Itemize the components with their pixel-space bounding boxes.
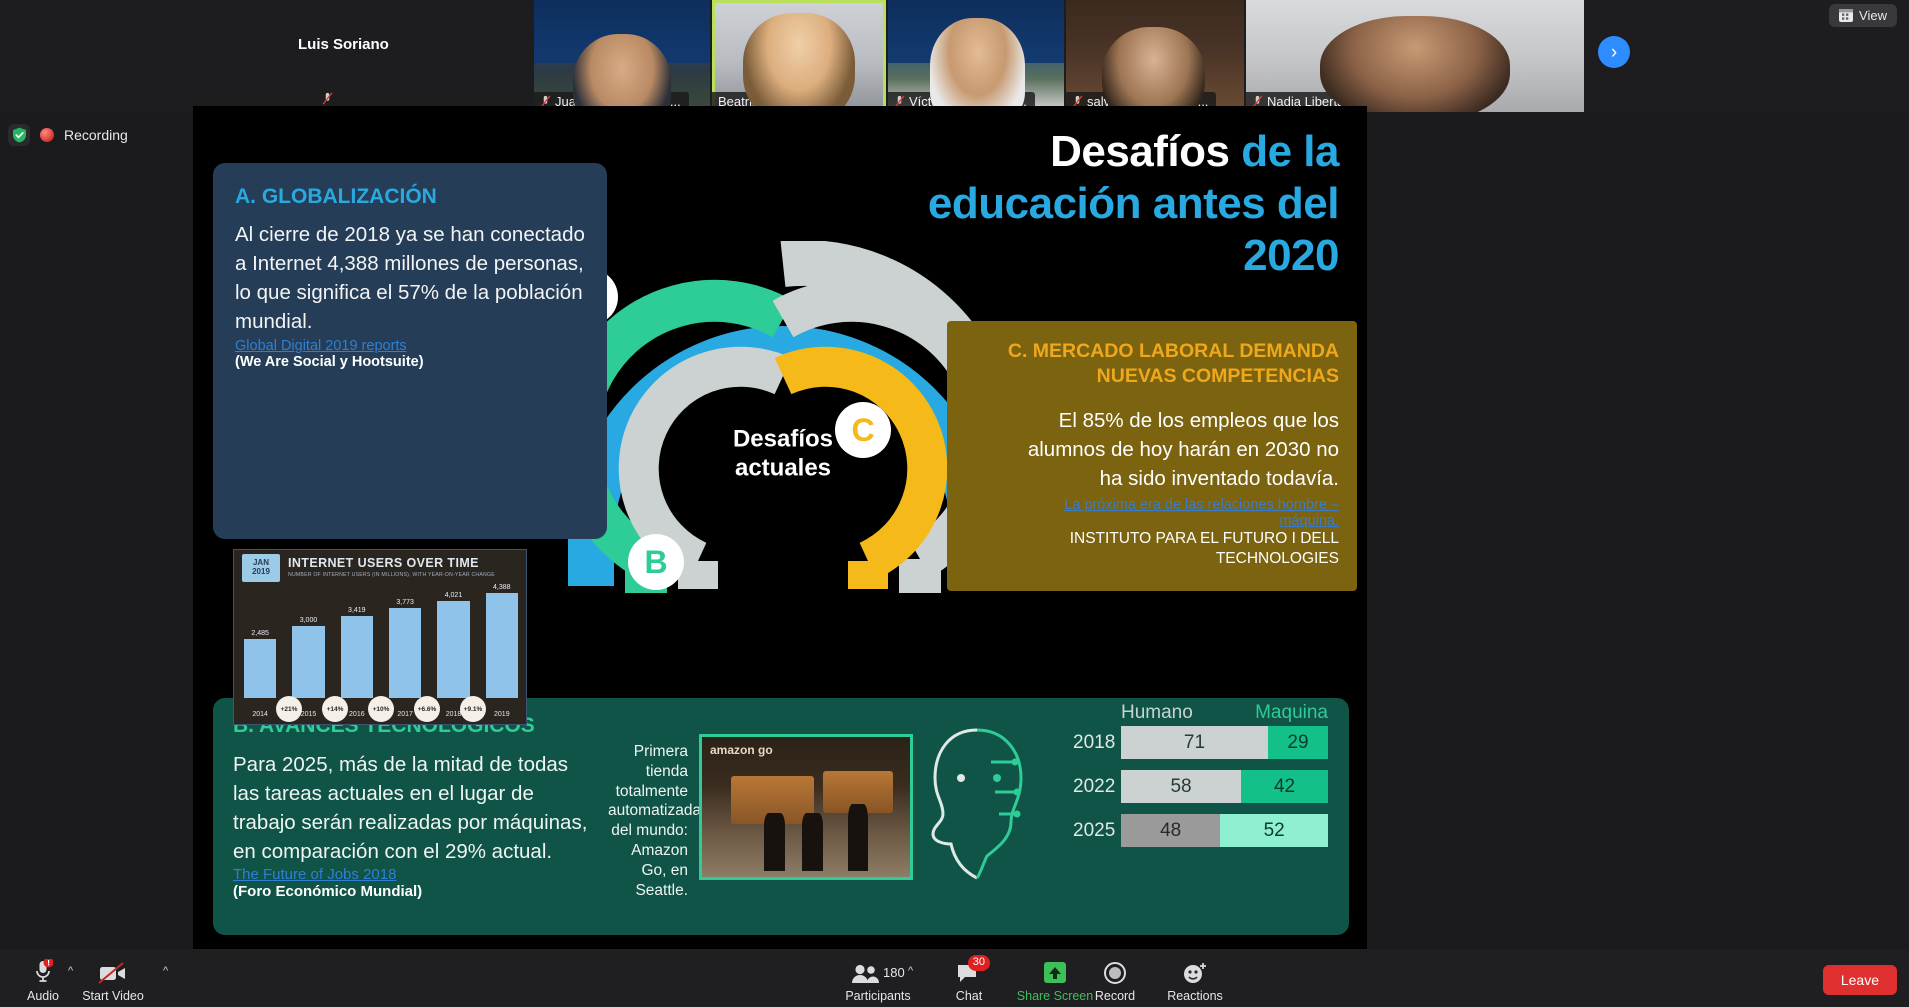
recording-dot-icon (40, 128, 54, 142)
hm-row: 2018 71 29 (1073, 726, 1328, 759)
view-button[interactable]: View (1829, 4, 1897, 27)
slide-title-line2: educación antes del (928, 179, 1339, 228)
panel-c-source-link[interactable]: La próxima era de las relaciones hombre … (1007, 497, 1339, 529)
photo-person-shape (848, 804, 869, 871)
panel-mercado-laboral: C. MERCADO LABORAL DEMANDA NUEVAS COMPET… (947, 321, 1357, 591)
chart-bar-group: 3,419 (341, 584, 373, 698)
leave-label: Leave (1841, 972, 1879, 988)
chart-bar-value: 4,388 (493, 584, 511, 591)
microphone-icon (33, 959, 53, 985)
chart-growth-pill: +6.6% (414, 696, 440, 722)
hm-legend-humano: Humano (1121, 702, 1193, 724)
reactions-button[interactable]: Reactions (1145, 959, 1245, 1003)
donut-center-line2: actuales (693, 454, 873, 483)
hm-row: 2025 48 52 (1073, 814, 1328, 847)
start-video-button[interactable]: Start Video (76, 959, 150, 1003)
panel-c-heading-line1: C. MERCADO LABORAL DEMANDA (1008, 340, 1339, 362)
active-speaker-name: Luis Soriano (298, 36, 389, 53)
panel-avances-tecnologicos: B. AVANCES TECNOLÓGICOS Para 2025, más d… (213, 698, 1349, 935)
hm-legend: Humano Maquina (1073, 702, 1328, 726)
chart-bar-value: 4,021 (445, 592, 463, 599)
reactions-label: Reactions (1167, 989, 1223, 1003)
recording-indicator: Recording (8, 124, 128, 146)
mute-icon (322, 92, 333, 106)
chart-bar-group: 3,773 (389, 584, 421, 698)
chart-bar-value: 3,000 (300, 617, 318, 624)
chat-unread-badge: 30 (968, 955, 990, 971)
hm-row-year: 2022 (1073, 776, 1121, 798)
chevron-right-icon: › (1611, 43, 1617, 62)
view-button-label: View (1859, 8, 1887, 23)
record-button[interactable]: Record (1075, 959, 1155, 1003)
people-icon: 180 (851, 959, 905, 985)
chart-bar (244, 639, 276, 698)
panel-c-source-line2: TECHNOLOGIES (1216, 550, 1339, 567)
chart-growth-pills: +21% +14% +10% +6.6% +9.1% (244, 698, 518, 722)
record-circle-icon (1103, 959, 1127, 985)
panel-c-source-line1: INSTITUTO PARA EL FUTURO I DELL (1070, 530, 1339, 547)
panel-b-source: (Foro Económico Mundial) (233, 883, 1329, 900)
chart-bar-value: 2,485 (251, 630, 269, 637)
audio-label: Audio (27, 989, 59, 1003)
photo-person-shape (764, 813, 785, 872)
slide-title-line1-plain: Desafíos (1050, 127, 1241, 176)
zoom-meeting-window: Luis Soriano Juan Carlos Centen... Beatr… (0, 0, 1909, 1007)
panel-globalizacion: A. GLOBALIZACIÓN Al cierre de 2018 ya se… (213, 163, 607, 539)
chat-button[interactable]: 30 Chat (932, 959, 1006, 1003)
chart-bar (389, 608, 421, 698)
chart-date-year: 2019 (252, 568, 270, 577)
challenges-donut-chart: A B C Desafíos actuales (568, 241, 998, 671)
video-options-chevron-icon[interactable]: ^ (163, 965, 168, 977)
audio-options-chevron-icon[interactable]: ^ (68, 965, 73, 977)
filmstrip-next-button[interactable]: › (1598, 36, 1630, 68)
chart-bar-value: 3,773 (396, 599, 414, 606)
presentation-slide: Desafíos de la educación antes del 2020 (193, 106, 1367, 949)
slide-title-line1-highlight: de la (1241, 127, 1339, 176)
participant-tile[interactable]: Beatriz Palacios (712, 0, 886, 112)
badge-b-label: B (644, 544, 667, 581)
hm-bar-maquina: 42 (1241, 770, 1328, 803)
amazon-go-caption: Primera tienda totalmente automatizada d… (608, 742, 688, 901)
recording-label: Recording (64, 127, 128, 143)
hm-row-bars: 48 52 (1121, 814, 1328, 847)
chart-bar (292, 626, 324, 698)
chart-growth-pill: +21% (276, 696, 302, 722)
smiley-plus-icon (1182, 959, 1208, 985)
panel-c-body: El 85% de los empleos que los alumnos de… (1007, 406, 1339, 493)
human-machine-face-icon (925, 722, 1035, 892)
chart-growth-pill: +10% (368, 696, 394, 722)
chart-title: INTERNET USERS OVER TIME (288, 556, 479, 570)
camera-off-icon (98, 959, 128, 985)
badge-b[interactable]: B (628, 534, 684, 590)
participant-tile[interactable]: salvadorhernandez... (1066, 0, 1244, 112)
chart-bar-group: 4,021 (437, 584, 469, 698)
zoom-toolbar: Audio ^ Start Video ^ 180 (0, 949, 1909, 1007)
photo-person-shape (802, 813, 823, 872)
chart-bar-group: 2,485 (244, 584, 276, 698)
chart-bar (486, 593, 518, 698)
hm-bar-maquina: 52 (1220, 814, 1328, 847)
hm-row-bars: 71 29 (1121, 726, 1328, 759)
participant-tile[interactable]: Nadia Libertad (1246, 0, 1584, 112)
hm-row-year: 2018 (1073, 732, 1121, 754)
chart-plot-area: 2,485 3,000 3,419 3,773 (244, 584, 518, 698)
chart-bar-group: 3,000 (292, 584, 324, 698)
hm-row: 2022 58 42 (1073, 770, 1328, 803)
chart-subtitle: NUMBER OF INTERNET USERS (IN MILLIONS), … (288, 572, 495, 578)
badge-c[interactable]: C (835, 402, 891, 458)
tile-background-banner (534, 0, 710, 63)
chart-date-badge: JAN 2019 (242, 554, 280, 582)
panel-a-source-link[interactable]: Global Digital 2019 reports (235, 338, 585, 354)
hm-bar-humano: 71 (1121, 726, 1268, 759)
chat-icon: 30 (956, 959, 982, 985)
security-shield-icon[interactable] (8, 124, 30, 146)
record-label: Record (1095, 989, 1135, 1003)
panel-c-heading: C. MERCADO LABORAL DEMANDA NUEVAS COMPET… (1007, 339, 1339, 390)
hm-bar-humano: 48 (1121, 814, 1220, 847)
hm-bar-humano: 58 (1121, 770, 1241, 803)
panel-c-source: INSTITUTO PARA EL FUTURO I DELL TECHNOLO… (1007, 529, 1339, 569)
tile-background-banner (888, 0, 1064, 63)
leave-button[interactable]: Leave (1823, 965, 1897, 995)
participants-label: Participants (845, 989, 910, 1003)
svg-text:180: 180 (883, 965, 905, 980)
slide-title-line3: 2020 (1243, 231, 1339, 280)
badge-c-label: C (851, 412, 874, 449)
chart-bar (437, 601, 469, 698)
panel-b-body: Para 2025, más de la mitad de todas las … (233, 750, 593, 866)
grid-view-icon (1839, 9, 1853, 22)
participant-tile[interactable]: Juan Carlos Centen... (534, 0, 710, 112)
human-machine-chart: Humano Maquina 2018 71 29 2022 58 (1073, 702, 1328, 858)
participant-filmstrip: Luis Soriano Juan Carlos Centen... Beatr… (0, 0, 1909, 112)
chart-bar-value: 3,419 (348, 607, 366, 614)
chart-bar (341, 616, 373, 698)
hm-bar-maquina: 29 (1268, 726, 1328, 759)
chart-header: JAN 2019 INTERNET USERS OVER TIME NUMBER… (234, 550, 526, 582)
chat-label: Chat (956, 989, 982, 1003)
panel-c-heading-line2: NUEVAS COMPETENCIAS (1097, 365, 1339, 387)
internet-users-chart: JAN 2019 INTERNET USERS OVER TIME NUMBER… (233, 549, 527, 725)
hm-row-bars: 58 42 (1121, 770, 1328, 803)
hm-row-year: 2025 (1073, 820, 1121, 842)
chart-growth-pill: +14% (322, 696, 348, 722)
share-arrow-icon (1042, 959, 1068, 985)
chart-bar-group: 4,388 (486, 584, 518, 698)
participants-button[interactable]: 180 Participants (818, 959, 938, 1003)
participants-options-chevron-icon[interactable]: ^ (908, 965, 913, 977)
panel-a-body: Al cierre de 2018 ya se han conectado a … (235, 220, 585, 336)
panel-a-source-sub: (We Are Social y Hootsuite) (235, 354, 585, 370)
start-video-label: Start Video (82, 989, 144, 1003)
hm-legend-maquina: Maquina (1255, 702, 1328, 724)
participant-tile[interactable]: Víctor Manuel Sán... (888, 0, 1064, 112)
amazon-logo-text: amazon go (710, 743, 773, 757)
chart-growth-pill: +9.1% (460, 696, 486, 722)
panel-a-heading: A. GLOBALIZACIÓN (235, 185, 585, 209)
shared-screen-area[interactable]: Desafíos de la educación antes del 2020 (193, 106, 1367, 949)
amazon-go-photo: amazon go (699, 734, 913, 880)
